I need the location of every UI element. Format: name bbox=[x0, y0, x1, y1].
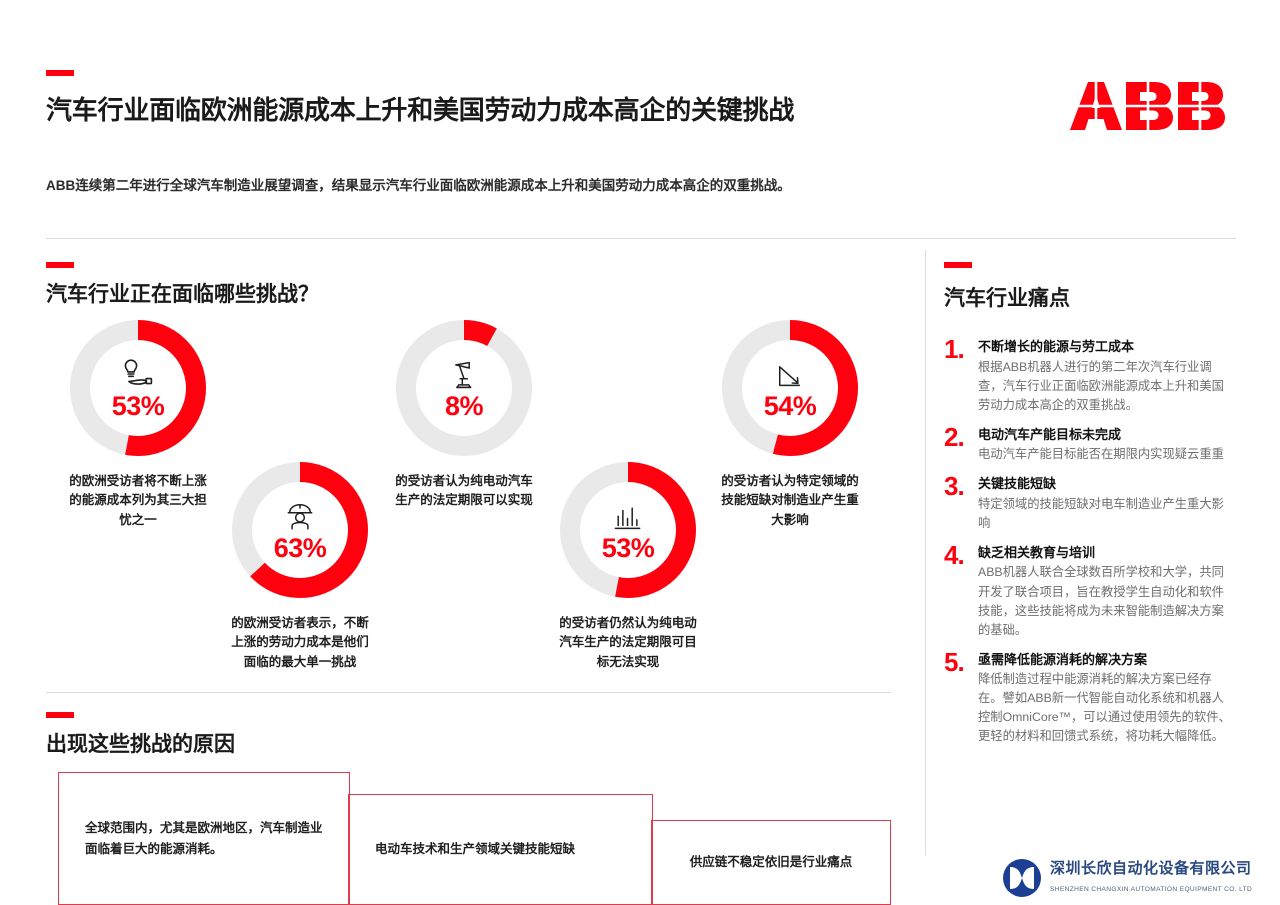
pain-point-number: 2. bbox=[944, 426, 978, 450]
pain-point-heading: 亟需降低能源消耗的解决方案 bbox=[978, 651, 1236, 669]
page-title: 汽车行业面临欧洲能源成本上升和美国劳动力成本高企的关键挑战 bbox=[46, 94, 1046, 127]
divider-header bbox=[46, 238, 1236, 239]
donut-chart: 54% bbox=[718, 316, 862, 460]
reason-box-text: 电动车技术和生产领域关键技能短缺 bbox=[349, 839, 652, 860]
changxin-name-cn: 深圳长欣自动化设备有限公司 bbox=[1050, 860, 1252, 877]
pain-point-number: 3. bbox=[944, 475, 978, 499]
donut-card-53-energy: 53% 的欧洲受访者将不断上涨的能源成本列为其三大担忧之一 bbox=[66, 316, 210, 530]
donut-caption: 的欧洲受访者将不断上涨的能源成本列为其三大担忧之一 bbox=[66, 472, 210, 530]
donut-chart: 8% bbox=[392, 316, 536, 460]
donut-caption: 的欧洲受访者表示，不断上涨的劳动力成本是他们面临的最大单一挑战 bbox=[228, 614, 372, 672]
reason-box-3: 供应链不稳定依旧是行业痛点 bbox=[651, 820, 891, 905]
reason-box-2: 电动车技术和生产领域关键技能短缺 bbox=[348, 794, 653, 905]
pain-point-text: 特定领域的技能短缺对电车制造业产生重大影响 bbox=[978, 495, 1236, 533]
donut-caption: 的受访者认为纯电动汽车生产的法定期限可以实现 bbox=[392, 472, 536, 511]
donut-card-54-skills: 54% 的受访者认为特定领域的技能短缺对制造业产生重大影响 bbox=[718, 316, 862, 530]
divider-reasons bbox=[46, 692, 891, 693]
changxin-logo: 深圳长欣自动化设备有限公司 SHENZHEN CHANGXIN AUTOMATI… bbox=[1002, 858, 1252, 898]
page-header: 汽车行业面临欧洲能源成本上升和美国劳动力成本高企的关键挑战 bbox=[46, 70, 1046, 127]
pain-points-title: 汽车行业痛点 bbox=[944, 282, 1236, 312]
pain-point-text: 降低制造过程中能源消耗的解决方案已经存在。譬如ABB新一代智能自动化系统和机器人… bbox=[978, 670, 1236, 746]
donut-card-63-labour: 63% 的欧洲受访者表示，不断上涨的劳动力成本是他们面临的最大单一挑战 bbox=[228, 458, 372, 672]
pain-point-text: ABB机器人联合全球数百所学校和大学，共同开发了联合项目，旨在教授学生自动化和软… bbox=[978, 563, 1236, 639]
pain-point-text: 电动汽车产能目标能否在期限内实现疑云重重 bbox=[978, 445, 1236, 464]
reasons-title: 出现这些挑战的原因 bbox=[46, 732, 235, 757]
challenges-title: 汽车行业正在面临哪些挑战？ bbox=[46, 282, 319, 307]
infographic-page: 汽车行业面临欧洲能源成本上升和美国劳动力成本高企的关键挑战 ABB连续第二年进行… bbox=[0, 0, 1280, 905]
divider-vertical bbox=[925, 250, 926, 855]
challenges-section-header: 汽车行业正在面临哪些挑战？ bbox=[46, 262, 319, 307]
reason-box-1: 全球范围内，尤其是欧洲地区，汽车制造业面临着巨大的能源消耗。 bbox=[58, 772, 350, 905]
donut-card-8-ev-deadline: 8% 的受访者认为纯电动汽车生产的法定期限可以实现 bbox=[392, 316, 536, 511]
reason-box-text: 全球范围内，尤其是欧洲地区，汽车制造业面临着巨大的能源消耗。 bbox=[59, 818, 349, 859]
accent-dash-header bbox=[46, 70, 74, 76]
changxin-name-en: SHENZHEN CHANGXIN AUTOMATION EQUIPMENT C… bbox=[1050, 886, 1252, 893]
accent-dash-challenges bbox=[46, 262, 74, 268]
donut-chart: 63% bbox=[228, 458, 372, 602]
pain-point-heading: 关键技能短缺 bbox=[978, 475, 1236, 493]
reasons-section-header: 出现这些挑战的原因 bbox=[46, 712, 235, 757]
pain-point-number: 1. bbox=[944, 338, 978, 362]
donut-card-53-ev-target: 53% 的受访者仍然认为纯电动汽车生产的法定期限可目标无法实现 bbox=[556, 458, 700, 672]
changxin-mark-icon bbox=[1002, 858, 1042, 898]
pain-point-item-4: 4. 缺乏相关教育与培训 ABB机器人联合全球数百所学校和大学，共同开发了联合项… bbox=[944, 544, 1236, 640]
pain-point-number: 5. bbox=[944, 651, 978, 675]
abb-logo bbox=[1068, 78, 1232, 134]
accent-dash-reasons bbox=[46, 712, 74, 718]
donut-chart: 53% bbox=[66, 316, 210, 460]
pain-points-panel: 汽车行业痛点 1. 不断增长的能源与劳工成本 根据ABB机器人进行的第二年次汽车… bbox=[944, 262, 1236, 757]
donut-caption: 的受访者认为特定领域的技能短缺对制造业产生重大影响 bbox=[718, 472, 862, 530]
pain-point-item-1: 1. 不断增长的能源与劳工成本 根据ABB机器人进行的第二年次汽车行业调查，汽车… bbox=[944, 338, 1236, 415]
pain-point-heading: 缺乏相关教育与培训 bbox=[978, 544, 1236, 562]
pain-point-heading: 电动汽车产能目标未完成 bbox=[978, 426, 1236, 444]
pain-point-item-5: 5. 亟需降低能源消耗的解决方案 降低制造过程中能源消耗的解决方案已经存在。譬如… bbox=[944, 651, 1236, 747]
donut-chart: 53% bbox=[556, 458, 700, 602]
pain-point-number: 4. bbox=[944, 544, 978, 568]
accent-dash-pain-points bbox=[944, 262, 972, 268]
donut-caption: 的受访者仍然认为纯电动汽车生产的法定期限可目标无法实现 bbox=[556, 614, 700, 672]
pain-point-text: 根据ABB机器人进行的第二年次汽车行业调查，汽车行业正面临欧洲能源成本上升和美国… bbox=[978, 358, 1236, 415]
reason-box-text: 供应链不稳定依旧是行业痛点 bbox=[652, 852, 890, 873]
changxin-logo-text: 深圳长欣自动化设备有限公司 SHENZHEN CHANGXIN AUTOMATI… bbox=[1050, 860, 1252, 896]
pain-point-heading: 不断增长的能源与劳工成本 bbox=[978, 338, 1236, 356]
pain-point-item-3: 3. 关键技能短缺 特定领域的技能短缺对电车制造业产生重大影响 bbox=[944, 475, 1236, 533]
pain-point-item-2: 2. 电动汽车产能目标未完成 电动汽车产能目标能否在期限内实现疑云重重 bbox=[944, 426, 1236, 465]
page-subtitle: ABB连续第二年进行全球汽车制造业展望调查，结果显示汽车行业面临欧洲能源成本上升… bbox=[46, 174, 936, 198]
